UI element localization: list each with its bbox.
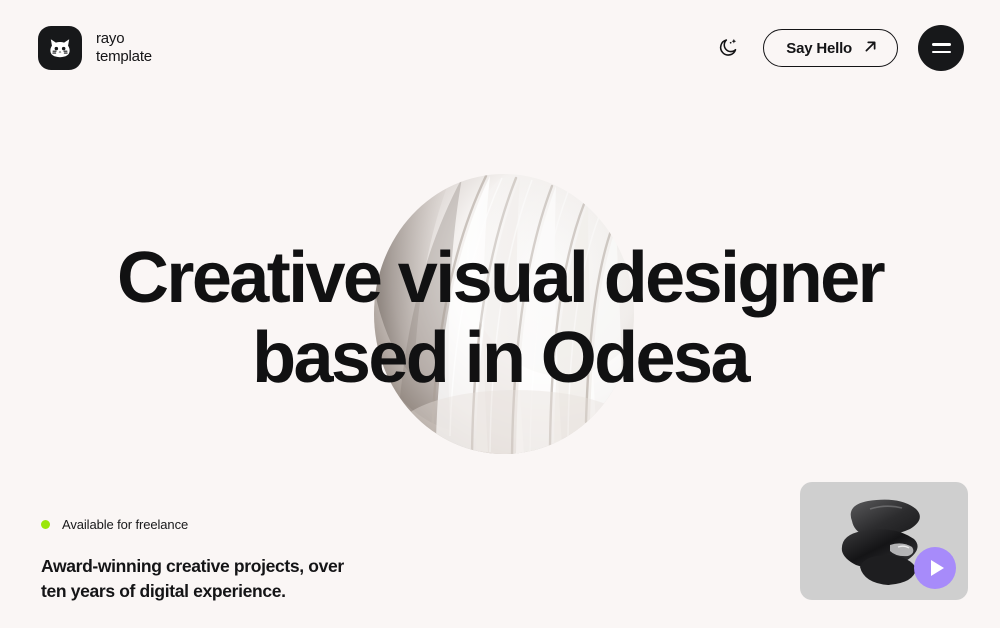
tagline-line-2: ten years of digital experience. — [41, 579, 344, 604]
brand-line-1: rayo — [96, 30, 152, 48]
say-hello-label: Say Hello — [786, 40, 852, 57]
brand-line-2: template — [96, 48, 152, 66]
ribbed-sphere-3d-object — [366, 168, 642, 456]
brand-name: rayo template — [96, 30, 152, 67]
header-actions: Say Hello — [713, 25, 964, 71]
moon-stars-icon — [717, 36, 739, 61]
play-triangle-icon — [931, 560, 944, 576]
showreel-video-card[interactable] — [800, 482, 968, 600]
tagline: Award-winning creative projects, over te… — [41, 554, 344, 604]
theme-toggle-button[interactable] — [713, 33, 743, 63]
hamburger-bar-top — [932, 43, 951, 46]
availability-status: Available for freelance — [41, 517, 344, 532]
say-hello-button[interactable]: Say Hello — [763, 29, 898, 67]
hero-line-1: Creative visual designer — [0, 238, 1000, 318]
hamburger-bar-bottom — [932, 51, 951, 54]
cat-logo-icon — [38, 26, 82, 70]
hero-line-2: based in Odesa — [0, 318, 1000, 398]
play-button[interactable] — [914, 547, 956, 589]
arrow-up-right-icon — [863, 39, 878, 58]
site-header: rayo template Say Hello — [0, 0, 1000, 96]
status-dot-icon — [41, 520, 50, 529]
brand-logo[interactable]: rayo template — [38, 26, 152, 70]
hero-footer-text: Available for freelance Award-winning cr… — [41, 517, 344, 604]
hero-heading: Creative visual designer based in Odesa — [0, 238, 1000, 398]
tagline-line-1: Award-winning creative projects, over — [41, 554, 344, 579]
availability-label: Available for freelance — [62, 517, 188, 532]
hamburger-menu-button[interactable] — [918, 25, 964, 71]
